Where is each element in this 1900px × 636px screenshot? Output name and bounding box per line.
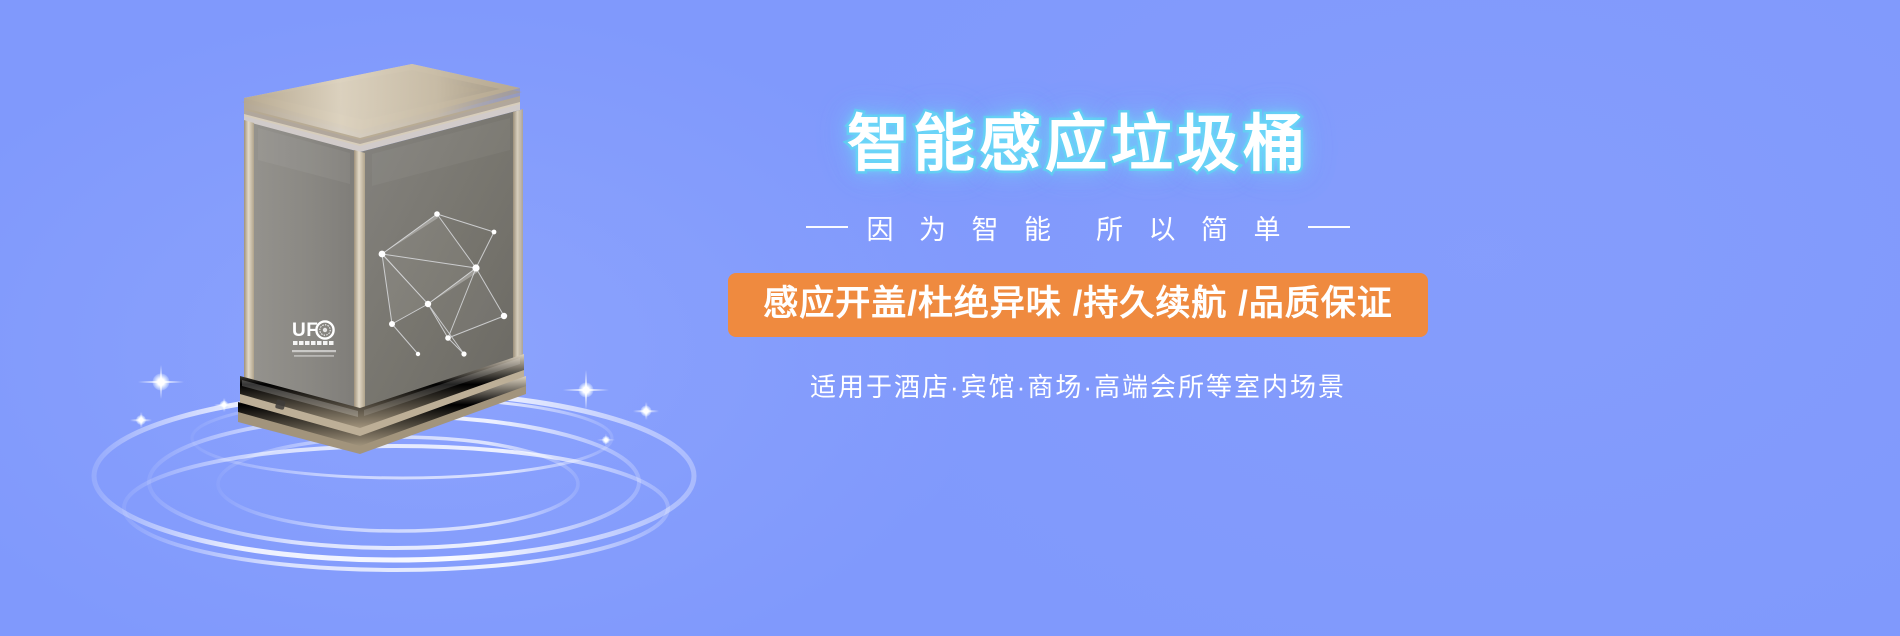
sparkle-core	[579, 383, 594, 398]
sparkle-beam-horizontal	[214, 404, 234, 406]
sparkle-beam-vertical	[223, 398, 225, 412]
sparkle-core	[641, 406, 652, 417]
sparkle-beam-horizontal	[597, 439, 615, 440]
sparkle-core	[220, 401, 229, 410]
sparkle-beam-vertical	[140, 412, 142, 428]
sparkle-core	[136, 415, 146, 425]
sparkle-beam-vertical	[585, 370, 587, 410]
subtitle-dash-left	[806, 226, 848, 228]
subtitle-dash-right	[1308, 226, 1350, 228]
sparkle-beam-vertical	[160, 365, 162, 399]
sparkle-beam-vertical	[605, 434, 606, 447]
sparkle-right-large	[563, 367, 609, 413]
page-title: 智能感应垃圾桶	[728, 112, 1428, 178]
promo-banner: UF	[0, 0, 1900, 636]
sparkle-mid-small	[214, 395, 234, 415]
sparkle-beam-horizontal	[138, 381, 184, 383]
sparkle-left-small	[130, 409, 152, 431]
sparkle-beam-horizontal	[130, 419, 152, 421]
text-content-block: 智能感应垃圾桶 因 为 智 能 所 以 简 单 感应开盖/杜绝异味 /持久续航 …	[728, 112, 1428, 404]
product-image: UF	[232, 54, 532, 454]
sparkle-left-large	[138, 359, 184, 405]
subtitle-text: 因 为 智 能 所 以 简 单	[866, 208, 1289, 247]
feature-badge-text: 感应开盖/杜绝异味 /持久续航 /品质保证	[763, 284, 1393, 323]
sparkle-beam-horizontal	[633, 410, 659, 412]
sparkle-core	[602, 436, 610, 444]
subtitle-row: 因 为 智 能 所 以 简 单	[728, 208, 1428, 247]
sparkle-right-tiny	[597, 431, 615, 449]
sparkle-beam-horizontal	[563, 389, 609, 391]
sparkle-right-small	[633, 398, 659, 424]
feature-badge: 感应开盖/杜绝异味 /持久续航 /品质保证	[728, 273, 1428, 337]
usage-scenarios-text: 适用于酒店·宾馆·商场·高端会所等室内场景	[728, 367, 1428, 404]
sparkle-beam-vertical	[645, 402, 647, 420]
svg-text:UF: UF	[292, 320, 318, 341]
sparkle-core	[153, 374, 170, 391]
